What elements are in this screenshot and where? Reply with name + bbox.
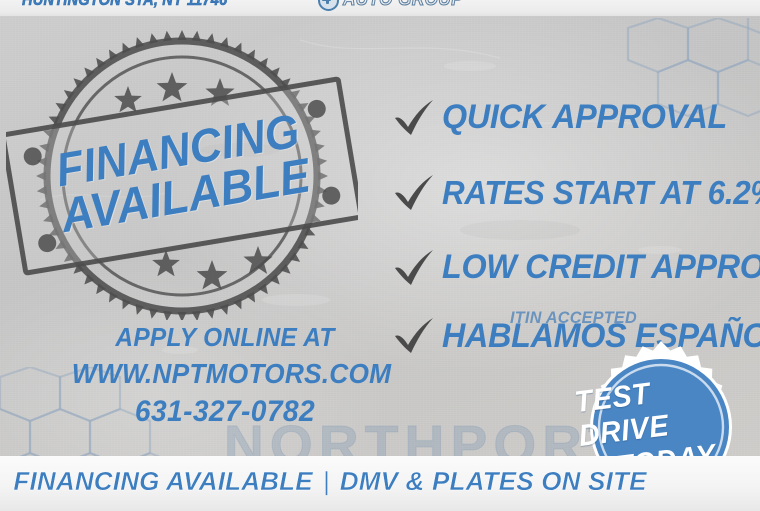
stamp-text: FINANCING AVAILABLE [0,1,380,347]
checklist-item: RATES START AT 6.2% [386,155,760,230]
website-link[interactable]: WWW.NPTMOTORS.COM [72,358,378,390]
checkmark-icon [386,248,442,288]
dealership-address: HUNTINGTON STA, NY 11746 [22,0,227,10]
checklist-item: QUICK APPROVAL [386,80,760,155]
footer-left-label: FINANCING AVAILABLE [13,466,312,496]
contact-block: APPLY ONLINE AT WWW.NPTMOTORS.COM 631-32… [62,322,388,429]
dealership-logo[interactable]: AUTO GROUP [318,0,476,11]
itin-accepted-note: ITIN ACCEPTED [510,308,637,328]
footer-separator: | [313,466,340,496]
top-header-bar: HUNTINGTON STA, NY 11746 AUTO GROUP [0,0,760,16]
checkmark-icon [386,98,442,138]
checklist-item-label: LOW CREDIT APPROVED [442,248,760,287]
footer-right-label: DMV & PLATES ON SITE [340,466,647,496]
checkmark-icon [386,173,442,213]
checkmark-icon [386,316,442,356]
dealership-brand-name: AUTO GROUP [343,0,463,11]
checklist-item: LOW CREDIT APPROVED [386,230,760,305]
flyer-canvas: NORTHPORT HUNTINGTON STA, NY 11746 AUTO … [0,0,760,511]
checklist-item-label: RATES START AT 6.2% [442,174,760,212]
financing-available-stamp: FINANCING AVAILABLE [6,28,358,320]
apply-online-label: APPLY ONLINE AT [72,322,378,353]
benefits-checklist: QUICK APPROVAL RATES START AT 6.2% LOW C… [386,80,760,367]
footer-text: FINANCING AVAILABLE|DMV & PLATES ON SITE [0,466,660,497]
phone-number[interactable]: 631-327-0782 [72,395,378,429]
badge-line-1: TEST DRIVE [573,366,745,454]
checklist-item-label: QUICK APPROVAL [442,98,727,137]
footer-bar: FINANCING AVAILABLE|DMV & PLATES ON SITE [0,456,760,511]
